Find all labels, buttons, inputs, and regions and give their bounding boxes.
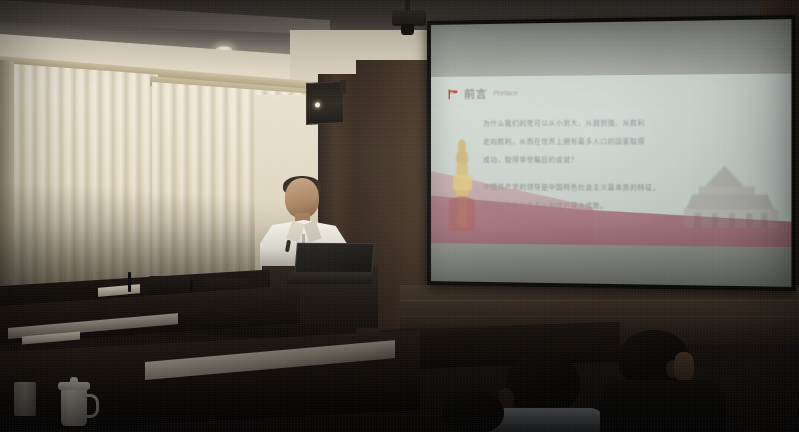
screen-top-band bbox=[431, 19, 791, 77]
communist-party-emblem-icon bbox=[447, 87, 460, 100]
presenter-head bbox=[285, 178, 319, 218]
slide-line: 为什么我们的党可以从小到大、从弱到强、从胜利 bbox=[483, 119, 645, 128]
slide-paragraph: 为什么我们的党可以从小到大、从弱到强、从胜利 走向胜利，从而在世界上拥有最多人口… bbox=[483, 111, 767, 167]
audience-head bbox=[442, 390, 504, 432]
mug-handle bbox=[85, 394, 99, 418]
slide-title-english: Preface bbox=[493, 90, 517, 97]
conference-room-photo: 前言 Preface 为什么我们的党可以从小到大、从弱到强、从胜利 走向胜利，从… bbox=[0, 0, 799, 432]
panel-seam bbox=[400, 300, 799, 301]
golden-statue-icon bbox=[445, 135, 479, 232]
slide-header: 前言 Preface bbox=[447, 85, 518, 102]
curtain-edge bbox=[0, 60, 14, 321]
projection-screen: 前言 Preface 为什么我们的党可以从小到大、从弱到强、从胜利 走向胜利，从… bbox=[427, 15, 796, 291]
projector-lens-icon bbox=[401, 24, 414, 35]
slide-line: 成功，取得举世瞩目的成就？ bbox=[483, 156, 578, 164]
presentation-slide: 前言 Preface 为什么我们的党可以从小到大、从弱到强、从胜利 走向胜利，从… bbox=[431, 73, 791, 247]
slide-line: 走向胜利，从而在世界上拥有最多人口的国家取得 bbox=[483, 138, 645, 146]
speaker-led-icon bbox=[315, 102, 320, 107]
speaker-bracket bbox=[340, 80, 346, 94]
monument-building-icon bbox=[682, 163, 781, 228]
audience-member-front-right bbox=[600, 330, 730, 432]
audience-member-back bbox=[432, 390, 522, 432]
audience-ear bbox=[666, 360, 679, 378]
lidded-tea-mug bbox=[61, 388, 87, 426]
screen-bottom-band bbox=[431, 243, 791, 287]
mug-lid bbox=[58, 382, 90, 390]
panel-seam bbox=[400, 316, 799, 317]
cup-secondary bbox=[14, 382, 36, 416]
desk-microphone bbox=[128, 272, 131, 292]
presenter-laptop-keyboard bbox=[287, 272, 374, 284]
mug-lid-knob bbox=[70, 377, 78, 383]
projection-screen-surface: 前言 Preface 为什么我们的党可以从小到大、从弱到强、从胜利 走向胜利，从… bbox=[431, 19, 791, 287]
audience-jacket-dark bbox=[600, 380, 726, 432]
wall-speaker bbox=[306, 81, 344, 125]
slide-title-chinese: 前言 bbox=[464, 85, 487, 101]
